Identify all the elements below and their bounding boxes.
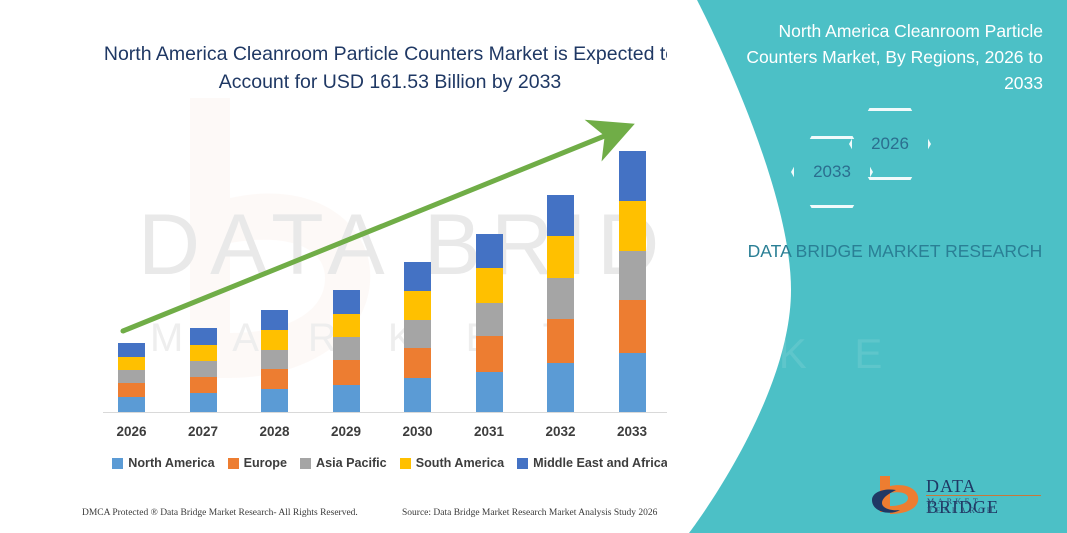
legend-label: Asia Pacific [316,456,387,470]
bar-segment [404,320,431,348]
x-axis-label-2033: 2033 [602,424,662,439]
bar-2027[interactable] [190,328,217,412]
x-axis-label-2026: 2026 [102,424,162,439]
bar-2028[interactable] [261,310,288,412]
bar-segment [333,314,360,338]
legend-label: North America [128,456,214,470]
bar-segment [333,337,360,360]
bar-segment [261,330,288,350]
bar-segment [261,350,288,369]
legend-item-3[interactable]: South America [400,456,504,470]
footer-source: Source: Data Bridge Market Research Mark… [402,508,657,518]
x-axis-label-2028: 2028 [245,424,305,439]
bar-segment [333,290,360,314]
logo-divider [926,495,1041,496]
bar-segment [404,378,431,412]
legend-item-4[interactable]: Middle East and Africa [517,456,668,470]
bar-segment [476,372,503,412]
infographic-canvas: DATA BRIDGE M A R K E T R E S E A R C H … [0,0,1067,533]
bar-segment [619,353,646,412]
panel-watermark-primary: BRI [667,176,714,281]
bar-segment [547,363,574,412]
legend-swatch-icon [112,458,123,469]
bar-segment [118,343,145,357]
bar-segment [118,370,145,383]
bar-segment [476,234,503,269]
bar-segment [547,278,574,319]
brand-logo: DATA BRIDGE MARKET RESEARCH [866,472,1046,520]
x-axis-label-2030: 2030 [388,424,448,439]
legend-swatch-icon [228,458,239,469]
x-axis-label-2027: 2027 [173,424,233,439]
bridge-b-icon [866,472,924,518]
bar-segment [404,291,431,320]
bar-segment [619,201,646,251]
logo-tagline: MARKET RESEARCH [927,497,1046,515]
bar-segment [190,328,217,344]
x-axis-label-2031: 2031 [459,424,519,439]
legend-swatch-icon [300,458,311,469]
bar-segment [619,300,646,353]
bar-segment [404,348,431,378]
bar-segment [190,361,217,376]
bar-2030[interactable] [404,262,431,412]
bar-segment [476,303,503,337]
legend-item-2[interactable]: Asia Pacific [300,456,387,470]
bar-segment [619,251,646,300]
legend-swatch-icon [517,458,528,469]
bar-segment [261,389,288,412]
panel-watermark-secondary: M A R K E [667,330,900,378]
bar-segment [190,345,217,361]
legend-swatch-icon [400,458,411,469]
legend-item-1[interactable]: Europe [228,456,287,470]
bar-segment [547,195,574,237]
bar-segment [190,393,217,412]
bar-segment [476,268,503,303]
bar-segment [333,385,360,412]
x-axis-line [103,412,673,413]
hexagon-label-2026: 2026 [871,134,909,154]
bar-2026[interactable] [118,343,145,412]
bar-segment [118,397,145,412]
bar-segment [261,310,288,330]
panel-title: North America Cleanroom Particle Counter… [743,18,1043,96]
bar-segment [118,357,145,371]
stacked-bar-chart: 20262027202820292030203120322033 [0,0,700,533]
bar-segment [404,262,431,291]
chart-legend: North AmericaEuropeAsia PacificSouth Ame… [96,456,684,470]
bar-2029[interactable] [333,290,360,412]
footer-copyright: DMCA Protected ® Data Bridge Market Rese… [82,508,358,518]
hexagon-label-2033: 2033 [813,162,851,182]
bar-segment [190,377,217,393]
bar-2031[interactable] [476,234,503,412]
bar-segment [547,236,574,278]
bar-segment [118,383,145,397]
legend-label: Europe [244,456,287,470]
legend-item-0[interactable]: North America [112,456,214,470]
legend-label: Middle East and Africa [533,456,668,470]
right-panel: BRI M A R K E North America Cleanroom Pa… [667,0,1067,533]
x-axis-label-2029: 2029 [316,424,376,439]
bar-segment [619,151,646,201]
bar-segment [261,369,288,389]
bar-segment [333,360,360,385]
panel-brand-text: DATA BRIDGE MARKET RESEARCH [667,238,1067,265]
bar-2033[interactable] [619,151,646,412]
x-axis-label-2032: 2032 [531,424,591,439]
bar-segment [476,336,503,371]
bar-segment [547,319,574,363]
bar-2032[interactable] [547,195,574,412]
legend-label: South America [416,456,504,470]
